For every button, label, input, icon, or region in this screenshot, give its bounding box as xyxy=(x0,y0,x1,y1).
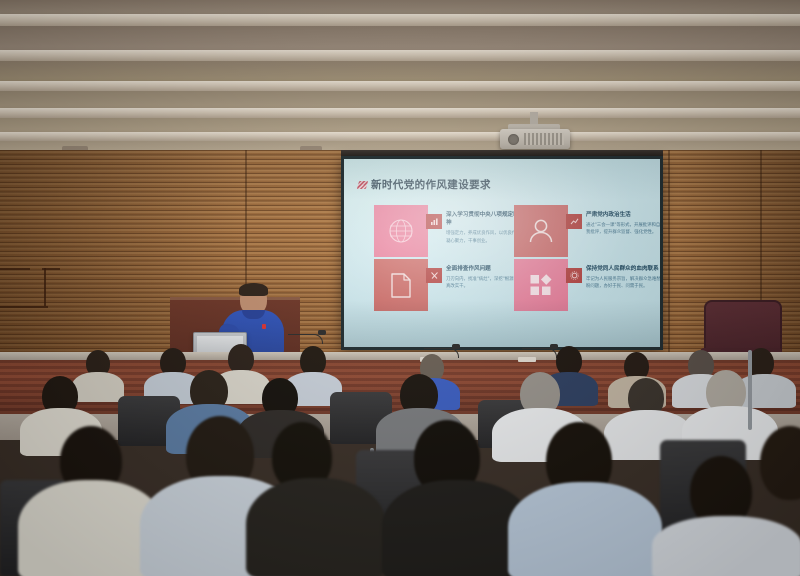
slide-column-right: 严肃党内政治生活 通过"三会一课"等形式，开展批评和自我批评，提升群众监督、强化… xyxy=(514,205,660,313)
block-text-4: 保持党同人民群众的血肉联系 牢记为人民服务宗旨，解决群众急难愁盼问题，办好于民、… xyxy=(586,265,660,291)
block-image-4 xyxy=(514,259,568,311)
slide-column-left: 深入学习贯彻中央八项规定精神 增强定力，养成优良作风，以优良作风凝心聚力，干事创… xyxy=(374,205,524,313)
block-heading: 严肃党内政治生活 xyxy=(586,211,660,219)
slide-block: 深入学习贯彻中央八项规定精神 增强定力，养成优良作风，以优良作风凝心聚力，干事创… xyxy=(374,205,524,257)
block-body: 牢记为人民服务宗旨，解决群众急难愁盼问题，办好于民、问需于民。 xyxy=(586,276,660,291)
block-body: 增强定力，养成优良作风，以优良作风凝心聚力，干事创业。 xyxy=(446,230,524,245)
block-image-3 xyxy=(514,205,568,257)
seat-frame xyxy=(748,350,752,430)
audience xyxy=(0,330,800,576)
block-tab-3 xyxy=(566,214,582,229)
bar-chart-icon xyxy=(430,217,439,226)
block-heading: 保持党同人民群众的血肉联系 xyxy=(586,265,660,273)
person-icon xyxy=(514,205,568,257)
wall-notch xyxy=(0,306,48,308)
projection-screen: 新时代党的作风建设要求 xyxy=(341,156,663,350)
wall-notch xyxy=(0,268,30,270)
double-slash-mark-icon xyxy=(357,181,368,189)
projector-vent xyxy=(524,133,564,145)
globe-grid-icon xyxy=(374,205,428,257)
block-body: 刀刃向内，找准"病灶"，深挖"根源"，真改实干。 xyxy=(446,276,524,291)
block-image-2 xyxy=(374,259,428,311)
block-body: 通过"三会一课"等形式，开展批评和自我批评，提升群众监督、强化党性。 xyxy=(586,222,660,237)
block-tab-2 xyxy=(426,268,442,283)
photo-scene: 新时代党的作风建设要求 xyxy=(0,0,800,576)
block-tab-4 xyxy=(566,268,582,283)
ceiling-projector xyxy=(500,129,570,149)
presenter-badge xyxy=(262,324,266,329)
ceiling xyxy=(0,0,800,152)
gear-icon xyxy=(570,271,579,280)
presenter-hair xyxy=(239,283,268,296)
document-icon xyxy=(374,259,428,311)
block-tab-1 xyxy=(426,214,442,229)
block-text-3: 严肃党内政治生活 通过"三会一课"等形式，开展批评和自我批评，提升群众监督、强化… xyxy=(586,211,660,237)
wall-notch xyxy=(44,268,46,306)
slide-block: 保持党同人民群众的血肉联系 牢记为人民服务宗旨，解决群众急难愁盼问题，办好于民、… xyxy=(514,259,660,311)
block-text-1: 深入学习贯彻中央八项规定精神 增强定力，养成优良作风，以优良作风凝心聚力，干事创… xyxy=(446,211,524,245)
slide-block: 全面排查作风问题 刀刃向内，找准"病灶"，深挖"根源"，真改实干。 xyxy=(374,259,524,311)
chart-line-icon xyxy=(570,217,579,226)
slide-title-row: 新时代党的作风建设要求 xyxy=(358,177,491,192)
slide-title: 新时代党的作风建设要求 xyxy=(371,177,491,192)
block-heading: 深入学习贯彻中央八项规定精神 xyxy=(446,211,524,228)
block-heading: 全面排查作风问题 xyxy=(446,265,524,273)
scissors-icon xyxy=(430,271,439,280)
slide-block: 严肃党内政治生活 通过"三会一课"等形式，开展批评和自我批评，提升群众监督、强化… xyxy=(514,205,660,257)
block-image-1 xyxy=(374,205,428,257)
block-text-2: 全面排查作风问题 刀刃向内，找准"病灶"，深挖"根源"，真改实干。 xyxy=(446,265,524,291)
projector-lens-icon xyxy=(508,134,519,145)
presentation-slide: 新时代党的作风建设要求 xyxy=(344,159,660,347)
four-squares-icon xyxy=(514,259,568,311)
